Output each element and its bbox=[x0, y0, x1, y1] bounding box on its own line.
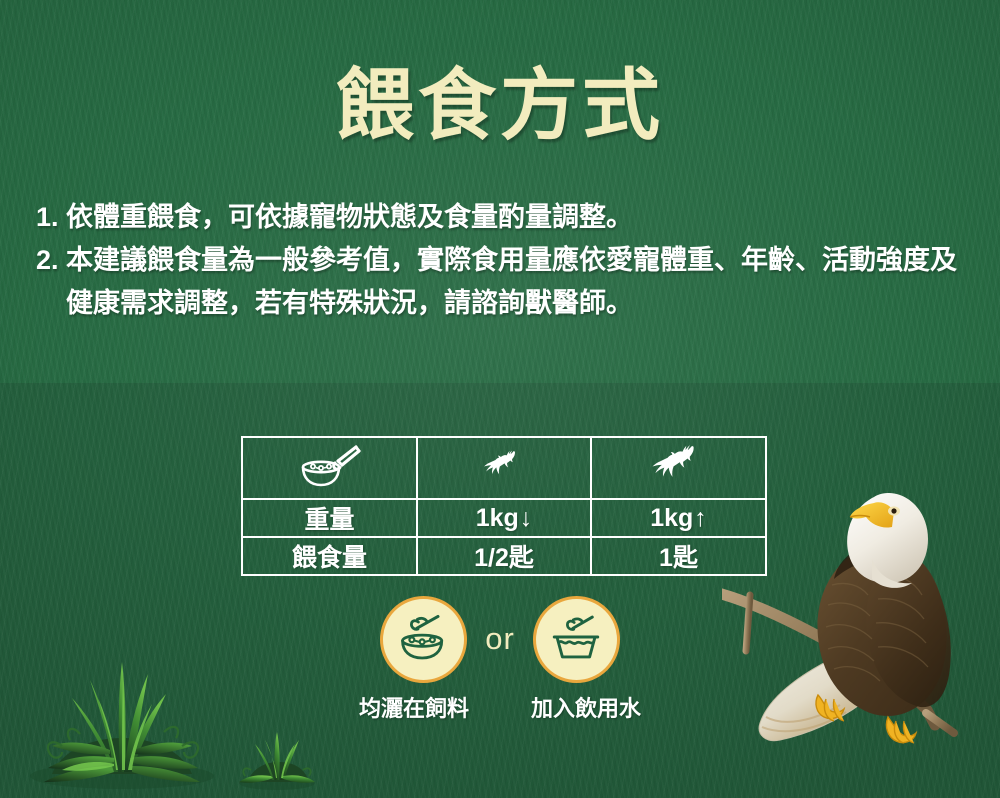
page-title: 餵食方式 bbox=[0, 60, 1000, 150]
method-label-water: 加入飲用水 bbox=[517, 691, 655, 723]
table-row: 餵食量 1/2匙 1匙 bbox=[242, 537, 766, 575]
table-cell-row-label: 餵食量 bbox=[242, 537, 417, 575]
add-to-drinking-water-icon bbox=[547, 609, 605, 670]
table-cell-value-text: 1kg bbox=[476, 504, 519, 533]
feeding-instructions-poster: 餵食方式 1. 依體重餵食，可依據寵物狀態及食量酌量調整。 2. 本建議餵食量為… bbox=[0, 0, 1000, 798]
method-labels: 均灑在飼料 加入飲用水 bbox=[330, 691, 670, 723]
method-row: or bbox=[330, 595, 670, 683]
list-item: 1. 依體重餵食，可依據寵物狀態及食量酌量調整。 bbox=[36, 196, 976, 239]
feeding-methods: or bbox=[330, 595, 670, 735]
table-row-icons bbox=[242, 437, 766, 499]
method-circle-add-to-water bbox=[533, 596, 620, 683]
list-item-number: 2. bbox=[36, 239, 66, 282]
small-eagle-silhouette-icon bbox=[483, 448, 525, 489]
bald-eagle-on-branch-photo bbox=[722, 455, 994, 765]
or-connector-label: or bbox=[485, 621, 515, 657]
table-cell-value: 1kg↓ bbox=[417, 499, 591, 537]
fern-plant-small bbox=[235, 728, 320, 790]
list-item-text: 依體重餵食，可依據寵物狀態及食量酌量調整。 bbox=[66, 196, 976, 239]
table-cell-row-label: 重量 bbox=[242, 499, 417, 537]
arrow-down-icon: ↓ bbox=[520, 506, 533, 531]
list-item-text: 本建議餵食量為一般參考值，實際食用量應依愛寵體重、年齡、活動強度及健康需求調整，… bbox=[66, 239, 976, 325]
table-cell-small-bird-icon bbox=[417, 437, 591, 499]
feeding-amount-table: 重量 1kg↓ 1kg↑ 餵食量 1/2匙 1匙 bbox=[241, 436, 767, 576]
list-item-number: 1. bbox=[36, 196, 66, 239]
instructions-list: 1. 依體重餵食，可依據寵物狀態及食量酌量調整。 2. 本建議餵食量為一般參考值… bbox=[36, 196, 976, 325]
table-cell-value-text: 1kg bbox=[650, 504, 693, 533]
large-eagle-silhouette-icon bbox=[651, 442, 707, 494]
method-circle-sprinkle-on-food bbox=[380, 596, 467, 683]
bowl-with-spoon-icon bbox=[299, 442, 361, 495]
table-cell-bowl-icon bbox=[242, 437, 417, 499]
arrow-up-icon: ↑ bbox=[694, 506, 707, 531]
sprinkle-on-food-bowl-icon bbox=[394, 609, 454, 670]
table-row: 重量 1kg↓ 1kg↑ bbox=[242, 499, 766, 537]
list-item: 2. 本建議餵食量為一般參考值，實際食用量應依愛寵體重、年齡、活動強度及健康需求… bbox=[36, 239, 976, 325]
method-label-sprinkle: 均灑在飼料 bbox=[345, 691, 483, 723]
table-cell-value: 1/2匙 bbox=[417, 537, 591, 575]
fern-plant-large bbox=[22, 654, 222, 789]
